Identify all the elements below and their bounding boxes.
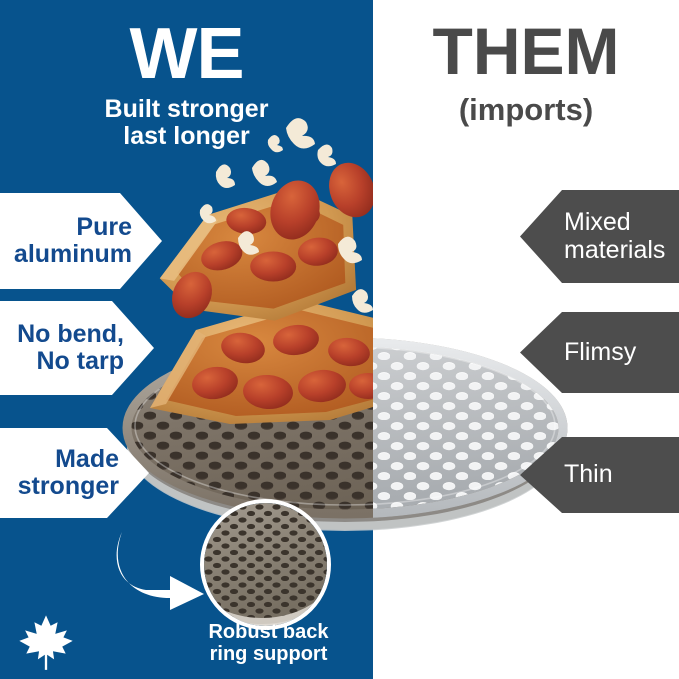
curved-arrow-icon xyxy=(112,528,212,610)
left-panel-subheading: Built stronger last longer xyxy=(0,96,373,150)
banner-pure-line2: aluminum xyxy=(14,241,132,268)
right-panel-subheading: (imports) xyxy=(373,94,679,127)
left-subheading-line1: Built stronger xyxy=(0,96,373,123)
inset-caption-line2: ring support xyxy=(186,643,351,665)
right-panel-heading: THEM xyxy=(373,18,679,84)
inset-caption-line1: Robust back xyxy=(186,621,351,643)
maple-leaf-icon xyxy=(17,612,75,672)
banner-mixed-line2: materials xyxy=(564,237,665,265)
inset-caption: Robust back ring support xyxy=(186,621,351,666)
comparison-infographic: WE Built stronger last longer THEM (impo… xyxy=(0,0,679,679)
banner-flimsy-line1: Flimsy xyxy=(564,339,636,367)
banner-mixed-line1: Mixed xyxy=(564,209,665,237)
banner-made-line1: Made xyxy=(18,446,119,473)
banner-made-line2: stronger xyxy=(18,473,119,500)
pan-back-closeup-inset xyxy=(200,499,331,630)
banner-thin-line1: Thin xyxy=(564,461,613,489)
left-subheading-line2: last longer xyxy=(0,123,373,150)
banner-nobend-line2: No tarp xyxy=(17,348,124,375)
banner-pure-line1: Pure xyxy=(14,214,132,241)
left-panel-heading: WE xyxy=(0,18,373,90)
banner-nobend-line1: No bend, xyxy=(17,321,124,348)
